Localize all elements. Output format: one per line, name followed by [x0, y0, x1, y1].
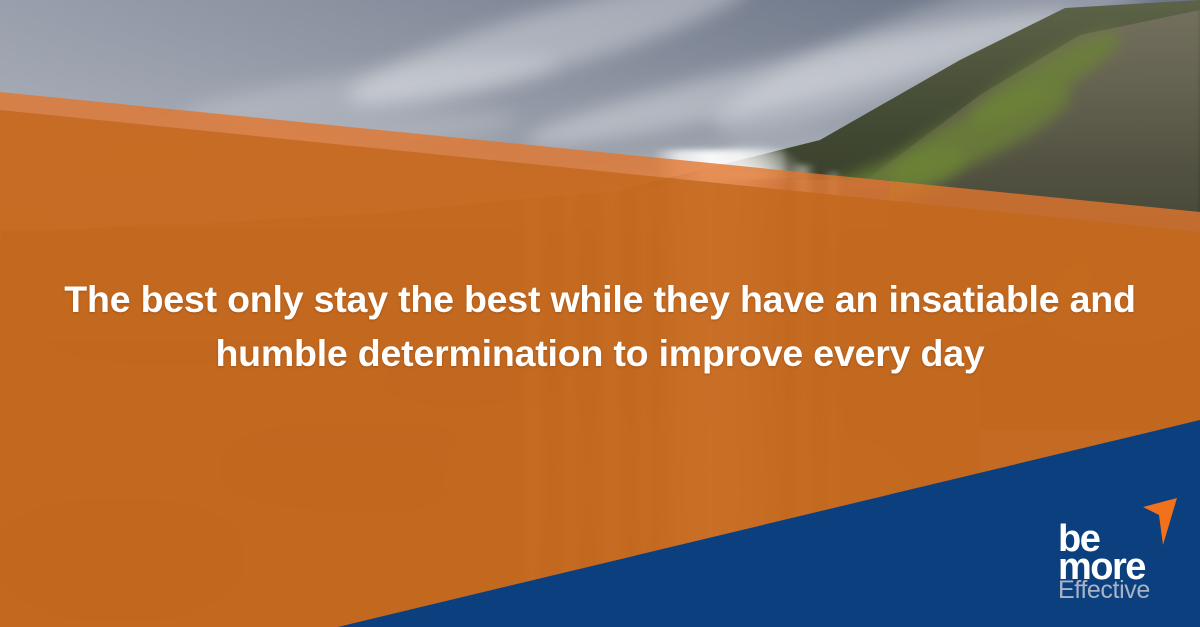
logo[interactable]: be more Effective: [1058, 492, 1188, 602]
orange-arrow-icon: [1126, 496, 1178, 546]
page-title: The best only stay the best while they h…: [0, 272, 1200, 380]
logo-tagline: Effective: [1058, 578, 1150, 603]
promo-banner: The best only stay the best while they h…: [0, 0, 1200, 627]
